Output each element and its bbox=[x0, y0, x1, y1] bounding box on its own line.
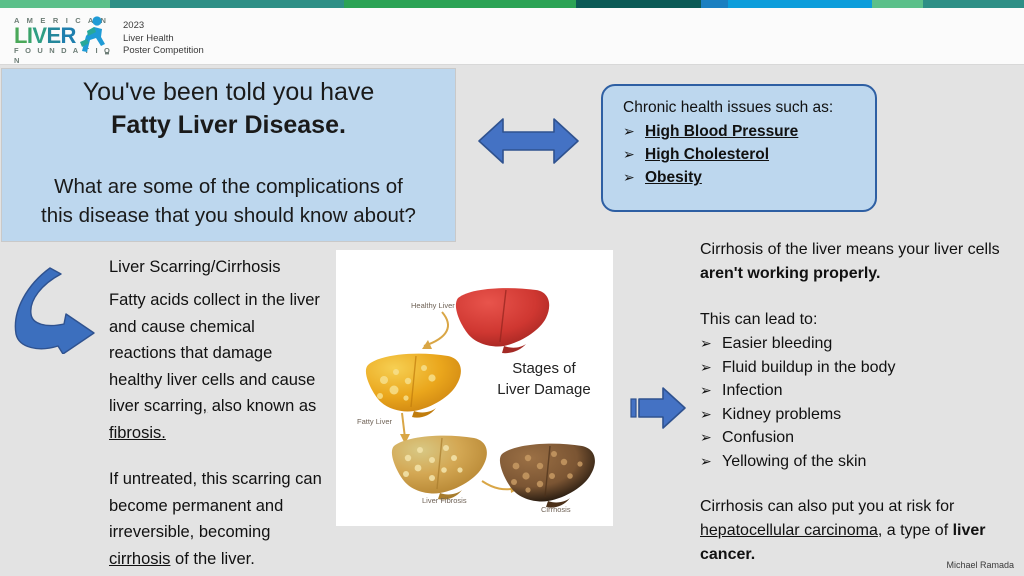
list-item: ➢Kidney problems bbox=[700, 403, 1000, 427]
right-outro-text: Cirrhosis can also put you at risk for bbox=[700, 498, 954, 515]
label-cirrhosis: Cirrhosis bbox=[541, 505, 571, 514]
fatty-liver-shape bbox=[366, 354, 461, 418]
effect-label: Infection bbox=[722, 379, 782, 403]
chronic-issue-label: High Cholesterol bbox=[645, 143, 769, 166]
bullet-arrow-icon: ➢ bbox=[623, 143, 645, 166]
left-paragraph-1: Fatty acids collect in the liver and cau… bbox=[109, 287, 324, 446]
effect-label: Easier bleeding bbox=[722, 332, 832, 356]
hero-panel: You've been told you have Fatty Liver Di… bbox=[1, 68, 456, 242]
poster-slide: A M E R I C A N LIVER F O U N D A T I O … bbox=[0, 0, 1024, 576]
left-p1-text-2: also known as bbox=[207, 397, 316, 415]
brand-bar-segment-1 bbox=[110, 0, 344, 8]
hero-question-line-2: this disease that you should know about? bbox=[2, 201, 455, 230]
effect-label: Yellowing of the skin bbox=[722, 450, 866, 474]
chronic-issue-label: Obesity bbox=[645, 166, 702, 189]
cirrhosis-liver-shape bbox=[500, 444, 595, 508]
right-lead: This can lead to: bbox=[700, 308, 1000, 332]
curved-arrow-icon bbox=[6, 266, 101, 354]
list-item: ➢ Obesity bbox=[623, 166, 875, 189]
right-intro-bold: aren't working properly. bbox=[700, 265, 880, 282]
runner-icon bbox=[74, 14, 110, 58]
brand-bar-segment-3 bbox=[576, 0, 701, 8]
header-line2: Liver Health bbox=[123, 33, 204, 46]
chronic-issues-box: Chronic health issues such as: ➢ High Bl… bbox=[601, 84, 877, 212]
list-item: ➢Easier bleeding bbox=[700, 332, 1000, 356]
left-p2-text: If untreated, this scarring can become p… bbox=[109, 470, 322, 541]
bullet-arrow-icon: ➢ bbox=[700, 356, 722, 380]
chronic-issues-lead: Chronic health issues such as: bbox=[623, 97, 875, 119]
right-intro-paragraph: Cirrhosis of the liver means your liver … bbox=[700, 238, 1000, 286]
label-healthy-liver: Healthy Liver bbox=[411, 301, 455, 310]
left-column-heading: Liver Scarring/Cirrhosis bbox=[109, 256, 324, 279]
list-item: ➢ High Cholesterol bbox=[623, 143, 875, 166]
bullet-arrow-icon: ➢ bbox=[623, 166, 645, 189]
hepatocellular-carcinoma-term: hepatocellular carcinoma bbox=[700, 522, 878, 539]
brand-bar-segment-2 bbox=[344, 0, 576, 8]
brand-bar-segment-4 bbox=[701, 0, 728, 8]
hero-line-2: Fatty Liver Disease. bbox=[2, 109, 455, 142]
bullet-arrow-icon: ➢ bbox=[700, 403, 722, 427]
left-paragraph-2: If untreated, this scarring can become p… bbox=[109, 466, 324, 572]
liver-stages-illustration: Healthy Liver Fatty Liver bbox=[336, 250, 613, 526]
brand-bar-segment-6 bbox=[872, 0, 923, 8]
bullet-arrow-icon: ➢ bbox=[700, 450, 722, 474]
header-line3: Poster Competition bbox=[123, 45, 204, 58]
list-item: ➢Yellowing of the skin bbox=[700, 450, 1000, 474]
left-text-column: Liver Scarring/Cirrhosis Fatty acids col… bbox=[109, 256, 324, 576]
bullet-arrow-icon: ➢ bbox=[700, 332, 722, 356]
spacer bbox=[700, 286, 1000, 308]
caption-line-2: Liver Damage bbox=[489, 379, 599, 400]
left-p2-text-2: of the liver. bbox=[170, 550, 254, 568]
liver-fibrosis-shape bbox=[392, 436, 487, 500]
hero-question-line-1: What are some of the complications of bbox=[2, 172, 455, 201]
list-item: ➢Fluid buildup in the body bbox=[700, 356, 1000, 380]
brand-bar-segment-0 bbox=[0, 0, 110, 8]
right-outro-paragraph: Cirrhosis can also put you at risk for h… bbox=[700, 495, 1000, 567]
effect-label: Fluid buildup in the body bbox=[722, 356, 895, 380]
right-intro-text: Cirrhosis of the liver means your liver … bbox=[700, 241, 1000, 258]
bullet-arrow-icon: ➢ bbox=[700, 379, 722, 403]
spacer bbox=[700, 473, 1000, 495]
healthy-liver-shape bbox=[456, 288, 549, 353]
poster-header: A M E R I C A N LIVER F O U N D A T I O … bbox=[0, 8, 1024, 65]
brand-color-bar bbox=[0, 0, 1024, 8]
list-item: ➢ High Blood Pressure bbox=[623, 120, 875, 143]
right-arrow-icon bbox=[629, 385, 687, 431]
right-outro-text-2: , a type of bbox=[878, 522, 953, 539]
fibrosis-term: fibrosis. bbox=[109, 424, 166, 442]
chronic-issue-label: High Blood Pressure bbox=[645, 120, 798, 143]
label-fatty-liver: Fatty Liver bbox=[357, 417, 393, 426]
brand-bar-segment-7 bbox=[923, 0, 1024, 8]
right-text-column: Cirrhosis of the liver means your liver … bbox=[700, 238, 1000, 567]
liver-image-caption: Stages of Liver Damage bbox=[489, 358, 599, 400]
bullet-arrow-icon: ➢ bbox=[700, 426, 722, 450]
chronic-issues-list: ➢ High Blood Pressure ➢ High Cholesterol… bbox=[623, 120, 875, 189]
label-liver-fibrosis: Liver Fibrosis bbox=[422, 496, 467, 505]
hero-line-1: You've been told you have bbox=[2, 76, 455, 109]
double-headed-arrow-icon bbox=[477, 112, 580, 170]
header-year: 2023 bbox=[123, 20, 204, 33]
caption-line-1: Stages of bbox=[489, 358, 599, 379]
bullet-arrow-icon: ➢ bbox=[623, 120, 645, 143]
effect-label: Kidney problems bbox=[722, 403, 841, 427]
header-title-block: 2023 Liver Health Poster Competition bbox=[123, 20, 204, 58]
effect-label: Confusion bbox=[722, 426, 794, 450]
brand-bar-segment-5 bbox=[728, 0, 872, 8]
cirrhosis-effects-list: ➢Easier bleeding ➢Fluid buildup in the b… bbox=[700, 332, 1000, 473]
list-item: ➢Confusion bbox=[700, 426, 1000, 450]
cirrhosis-term: cirrhosis bbox=[109, 550, 170, 568]
list-item: ➢Infection bbox=[700, 379, 1000, 403]
author-credit: Michael Ramada bbox=[946, 560, 1014, 570]
